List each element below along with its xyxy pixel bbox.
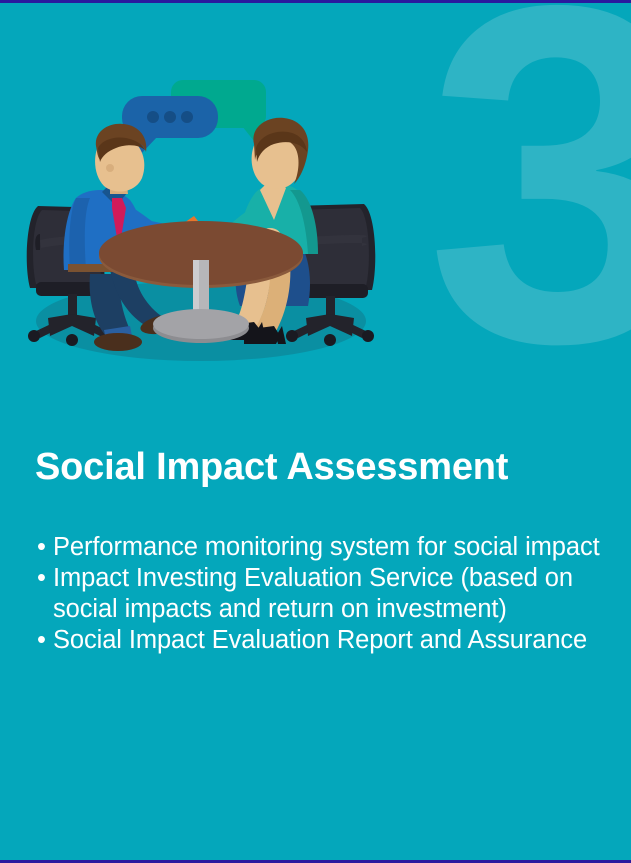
list-item-label: Impact Investing Evaluation Service (bas…: [53, 563, 600, 625]
bullet-marker-icon: •: [37, 625, 46, 656]
bullet-marker-icon: •: [37, 532, 46, 563]
bullet-marker-icon: •: [37, 563, 46, 594]
text-content-block: Social Impact Assessment • Performance m…: [35, 448, 600, 656]
meeting-illustration: [18, 74, 384, 374]
list-item: • Impact Investing Evaluation Service (b…: [35, 563, 600, 625]
list-item-label: Performance monitoring system for social…: [53, 532, 600, 563]
list-item: • Social Impact Evaluation Report and As…: [35, 625, 600, 656]
feature-bullet-list: • Performance monitoring system for soci…: [35, 532, 600, 656]
page-title: Social Impact Assessment: [35, 448, 600, 488]
background-step-number: 3: [426, 0, 631, 414]
top-edge-strip: [0, 0, 631, 3]
list-item-label: Social Impact Evaluation Report and Assu…: [53, 625, 600, 656]
list-item: • Performance monitoring system for soci…: [35, 532, 600, 563]
slide-card: 3: [0, 0, 631, 863]
